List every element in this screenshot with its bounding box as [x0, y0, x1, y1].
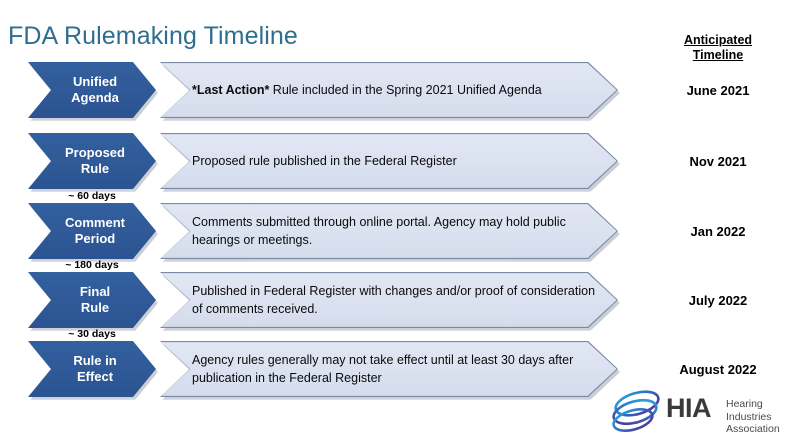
- stage-label-line2: Period: [65, 231, 125, 247]
- stage-label-proposed-rule[interactable]: Proposed Rule: [28, 133, 156, 189]
- stage-label-line1: Rule in: [73, 353, 116, 369]
- stage-label-line2: Agenda: [71, 90, 119, 106]
- stage-description-emphasis: *Last Action*: [192, 83, 269, 97]
- stage-description-body: Proposed rule published in the Federal R…: [192, 154, 457, 168]
- stage-label-final-rule[interactable]: Final Rule: [28, 272, 156, 328]
- stage-description-text: *Last Action* Rule included in the Sprin…: [192, 62, 600, 118]
- stage-description-text: Published in Federal Register with chang…: [192, 272, 600, 328]
- stage-label-line2: Rule: [65, 161, 125, 177]
- interval-label-30-days: ~ 30 days: [28, 328, 156, 340]
- hia-name-line2: Association: [726, 423, 796, 436]
- stage-label-line1: Comment: [65, 215, 125, 231]
- stage-row: Final Rule Published in Federal Register…: [0, 272, 800, 328]
- stage-description-body: Agency rules generally may not take effe…: [192, 353, 573, 385]
- stage-label-unified-agenda[interactable]: Unified Agenda: [28, 62, 156, 118]
- hia-logo: HIA Hearing Industries Association: [608, 386, 796, 436]
- timeline-column-header: Anticipated Timeline: [648, 33, 788, 63]
- stage-date-proposed-rule: Nov 2021: [648, 133, 788, 189]
- stage-description-body: Rule included in the Spring 2021 Unified…: [269, 83, 541, 97]
- stage-label-line1: Unified: [71, 74, 119, 90]
- interval-label-60-days: ~ 60 days: [28, 190, 156, 202]
- stage-description-body: Comments submitted through online portal…: [192, 215, 566, 247]
- stage-label-comment-period[interactable]: Comment Period: [28, 203, 156, 259]
- hia-name-line1: Hearing Industries: [726, 398, 796, 423]
- stage-description-text: Proposed rule published in the Federal R…: [192, 133, 600, 189]
- stage-description-body: Published in Federal Register with chang…: [192, 284, 595, 316]
- timeline-header-line2: Timeline: [648, 48, 788, 63]
- stage-date-comment-period: Jan 2022: [648, 203, 788, 259]
- stage-description-text: Agency rules generally may not take effe…: [192, 341, 600, 397]
- stage-date-final-rule: July 2022: [648, 272, 788, 328]
- stage-label-line1: Final: [80, 284, 110, 300]
- stage-label-line2: Effect: [73, 369, 116, 385]
- stage-description-text: Comments submitted through online portal…: [192, 203, 600, 259]
- hia-full-name: Hearing Industries Association: [726, 398, 796, 436]
- stage-label-rule-in-effect[interactable]: Rule in Effect: [28, 341, 156, 397]
- page-title: FDA Rulemaking Timeline: [8, 22, 298, 51]
- hia-rings-icon: [608, 386, 666, 436]
- stage-date-unified-agenda: June 2021: [648, 62, 788, 118]
- stage-row: Proposed Rule Proposed rule published in…: [0, 133, 800, 189]
- stage-row: Comment Period Comments submitted throug…: [0, 203, 800, 259]
- stage-label-line1: Proposed: [65, 145, 125, 161]
- timeline-header-line1: Anticipated: [648, 33, 788, 48]
- stage-row: Unified Agenda *Last Action* Rule includ…: [0, 62, 800, 118]
- interval-label-180-days: ~ 180 days: [28, 259, 156, 271]
- hia-initials: HIA: [666, 393, 711, 424]
- stage-label-line2: Rule: [80, 300, 110, 316]
